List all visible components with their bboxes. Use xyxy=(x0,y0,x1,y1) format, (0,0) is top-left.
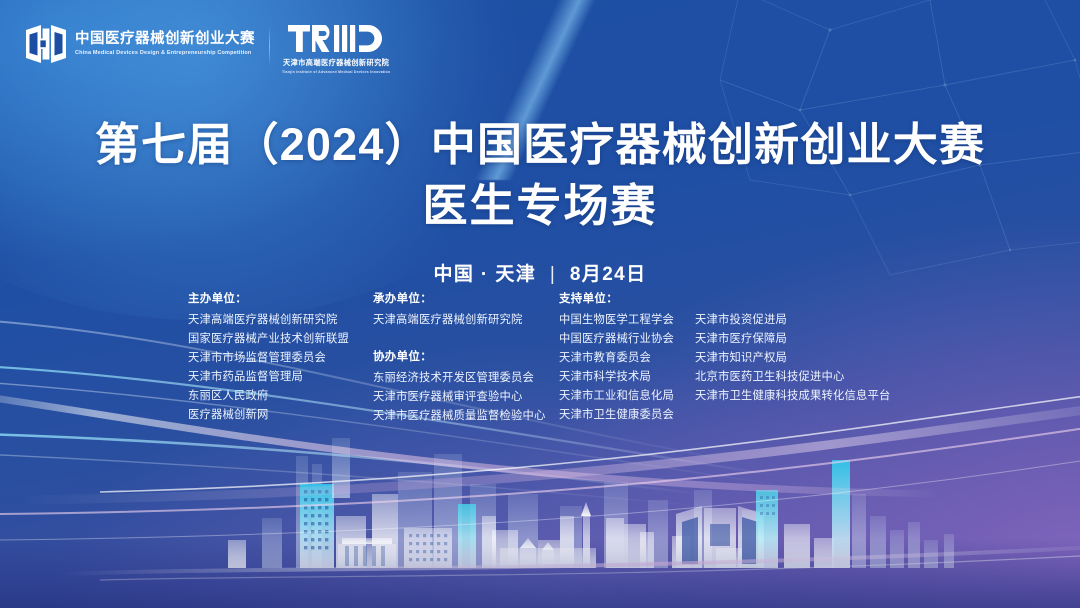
institute-logo: 天津市高端医疗器械创新研究院 Tianjin Institute of Adva… xyxy=(282,24,390,74)
organizer-item: 天津市教育委员会 xyxy=(559,349,695,368)
poster-title: 第七届（2024）中国医疗器械创新创业大赛 医生专场赛 xyxy=(0,118,1080,234)
organizer-item: 天津市知识产权局 xyxy=(695,349,890,368)
organizer-item: 中国医疗器械行业协会 xyxy=(559,330,695,349)
subtitle-separator: | xyxy=(550,264,556,286)
organizer-group-heading: 承办单位： xyxy=(373,291,559,309)
organizer-item: 天津市科学技术局 xyxy=(559,368,695,387)
event-location-date: 中国 · 天津 | 8月24日 xyxy=(0,259,1080,286)
organizer-item: 国家医疗器械产业技术创新联盟 xyxy=(188,330,373,349)
competition-logo: 中国医疗器械创新创业大赛 China Medical Devices Desig… xyxy=(24,24,269,64)
event-date: 8月24日 xyxy=(570,264,647,285)
organizer-item: 天津高端医疗器械创新研究院 xyxy=(188,311,373,330)
competition-logo-en: China Medical Devices Design & Entrepren… xyxy=(75,50,259,57)
organizer-group-heading: 支持单位： xyxy=(559,291,695,309)
institute-logo-en: Tianjin Institute of Advanced Medical De… xyxy=(282,70,390,74)
organizer-group-heading-spacer xyxy=(695,291,890,309)
logo-divider xyxy=(269,26,270,66)
organizer-group: 承办单位：天津高端医疗器械创新研究院 xyxy=(373,291,559,330)
title-line-1: 第七届（2024）中国医疗器械创新创业大赛 xyxy=(0,118,1080,173)
title-line-2: 医生专场赛 xyxy=(0,179,1080,234)
competition-logo-cn: 中国医疗器械创新创业大赛 xyxy=(75,31,255,48)
organizer-group: 天津市投资促进局天津市医疗保障局天津市知识产权局北京市医药卫生科技促进中心天津市… xyxy=(695,291,890,406)
header-logos: 中国医疗器械创新创业大赛 China Medical Devices Desig… xyxy=(24,24,390,74)
organizer-item: 天津市医疗保障局 xyxy=(695,330,890,349)
event-location: 中国 · 天津 xyxy=(433,264,536,285)
organizer-group-heading: 协办单位： xyxy=(373,349,559,367)
organizer-column-4: 天津市投资促进局天津市医疗保障局天津市知识产权局北京市医药卫生科技促进中心天津市… xyxy=(695,291,890,406)
triiid-wordmark-icon xyxy=(288,24,384,54)
event-poster: 中国医疗器械创新创业大赛 China Medical Devices Desig… xyxy=(0,0,1080,608)
organizer-item: 天津高端医疗器械创新研究院 xyxy=(373,311,559,330)
institute-logo-cn: 天津市高端医疗器械创新研究院 xyxy=(283,58,389,68)
organizer-item: 东丽经济技术开发区管理委员会 xyxy=(373,369,559,388)
organizer-item: 北京市医药卫生科技促进中心 xyxy=(695,368,890,387)
open-door-icon xyxy=(24,24,68,64)
organizer-group-heading: 主办单位： xyxy=(188,291,373,309)
bottom-fade-overlay xyxy=(0,538,1080,608)
organizer-item: 天津市投资促进局 xyxy=(695,311,890,330)
organizer-item: 天津市药品监督管理局 xyxy=(188,368,373,387)
organizer-item: 天津市市场监督管理委员会 xyxy=(188,349,373,368)
organizer-item: 中国生物医学工程学会 xyxy=(559,311,695,330)
